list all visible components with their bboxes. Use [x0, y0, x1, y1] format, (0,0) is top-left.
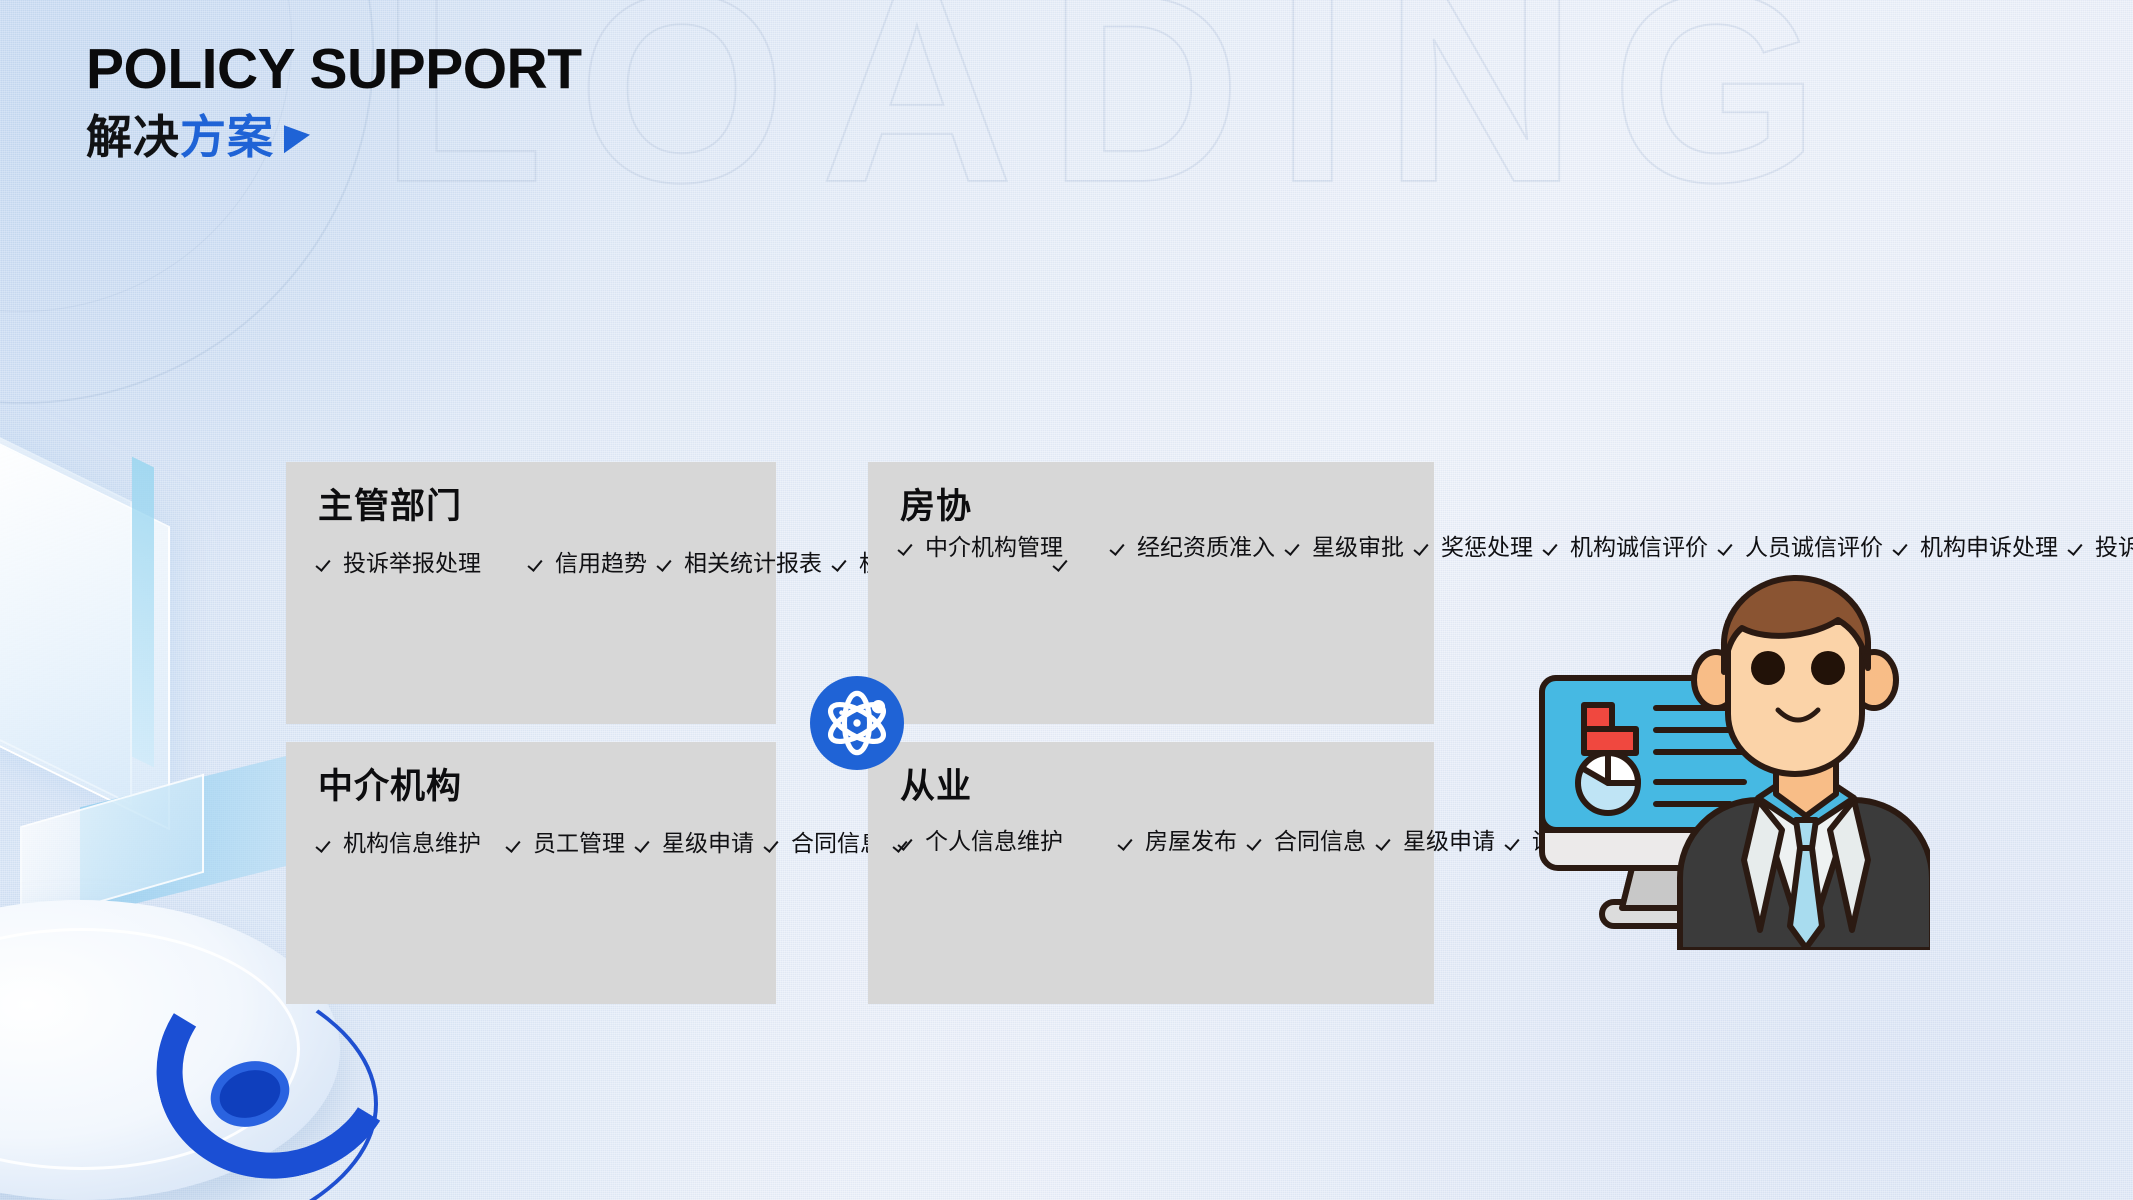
list-item[interactable]: 房屋发布 — [1120, 824, 1237, 859]
slide-canvas: LOADING POLICY SUPPORT 解决方案 主管部门 投诉举报处理 … — [0, 0, 2133, 1200]
list-item-label: 员工管理 — [533, 826, 625, 861]
card-agency[interactable]: 中介机构 机构信息维护 员工管理 星级申请 合同信息 诚信档案查看 — [286, 742, 776, 1004]
list-item[interactable]: 经纪资质准入 — [1112, 530, 1275, 564]
check-icon — [318, 836, 334, 852]
list-item-label: 个人信息维护 — [925, 824, 1063, 859]
list-item-label: 经纪资质准入 — [1137, 530, 1275, 564]
check-icon — [1112, 539, 1128, 555]
list-item[interactable]: 投诉建议记录 — [2070, 530, 2133, 564]
list-item-label: 中介机构管理 — [925, 530, 1063, 564]
check-icon — [900, 834, 916, 850]
list-item-label: 机构申诉处理 — [1920, 530, 2058, 564]
list-item[interactable]: 信用趋势 — [530, 546, 647, 580]
check-icon — [900, 539, 916, 555]
card-title: 从业 — [900, 766, 1408, 808]
list-item-label: 相关统计报表 — [684, 546, 822, 580]
check-icon — [318, 555, 334, 571]
list-item[interactable]: 奖惩处理 — [1416, 530, 1533, 564]
card-item-list: 投诉举报处理 信用趋势 相关统计报表 机构信用信息查看 人员信用信息查看 — [318, 546, 750, 580]
check-icon — [1055, 555, 1071, 571]
list-item-label: 星级申请 — [662, 826, 754, 861]
check-icon — [1378, 834, 1394, 850]
list-item[interactable]: 星级审批 — [1287, 530, 1404, 564]
card-practitioner[interactable]: 从业 个人信息维护 房屋发布 合同信息 星级申请 诚信档案查看 — [868, 742, 1434, 1004]
triangle-play-icon — [284, 121, 310, 154]
check-icon — [508, 836, 524, 852]
check-icon — [637, 836, 653, 852]
list-item[interactable]: 星级申请 — [1378, 824, 1495, 859]
subtitle-dark-part: 解决 — [86, 114, 180, 160]
card-housing-association[interactable]: 房协 中介机构管理 经纪资质准入 星级审批 奖惩处理 机构诚信评价 人员诚信评价… — [868, 462, 1434, 724]
list-item-label: 投诉建议记录 — [2095, 530, 2133, 564]
list-item-label: 合同信息 — [1274, 824, 1366, 859]
check-icon — [1249, 834, 1265, 850]
list-item[interactable]: 投诉举报处理 — [318, 546, 518, 580]
illustration-businessman-monitor — [1530, 530, 1930, 950]
atom-icon — [820, 686, 894, 760]
check-icon — [530, 555, 546, 571]
list-item-label: 星级申请 — [1403, 824, 1495, 859]
heading-block: POLICY SUPPORT 解决方案 — [86, 40, 582, 160]
check-icon — [1120, 834, 1136, 850]
list-item[interactable]: 机构信息维护 — [318, 826, 496, 861]
card-title: 中介机构 — [318, 766, 750, 808]
check-icon — [2070, 539, 2086, 555]
check-icon — [1287, 539, 1303, 555]
glass-panel-edge — [132, 457, 154, 768]
check-icon — [834, 555, 850, 571]
list-item-label: 奖惩处理 — [1441, 530, 1533, 564]
list-item[interactable]: 合同信息 — [1249, 824, 1366, 859]
page-title: POLICY SUPPORT — [86, 40, 582, 100]
list-item-label: 投诉举报处理 — [343, 546, 481, 580]
check-icon — [1416, 539, 1432, 555]
list-item-label: 机构信息维护 — [343, 826, 481, 861]
list-item[interactable]: 合同信息 — [766, 826, 883, 861]
list-item[interactable]: 相关统计报表 — [659, 546, 822, 580]
card-item-list: 中介机构管理 经纪资质准入 星级审批 奖惩处理 机构诚信评价 人员诚信评价 机构… — [900, 530, 1408, 564]
card-item-list: 个人信息维护 房屋发布 合同信息 星级申请 诚信档案查看 — [900, 824, 1408, 859]
list-item[interactable]: 个人信息维护 — [900, 824, 1108, 859]
center-atom-badge[interactable] — [810, 676, 904, 770]
page-subtitle: 解决方案 — [86, 114, 582, 160]
list-item[interactable]: 员工管理 — [508, 826, 625, 861]
card-title: 房协 — [900, 486, 1408, 528]
check-icon — [766, 836, 782, 852]
card-supervising-department[interactable]: 主管部门 投诉举报处理 信用趋势 相关统计报表 机构信用信息查看 人员信用信息查… — [286, 462, 776, 724]
check-icon — [1507, 834, 1523, 850]
card-title: 主管部门 — [318, 486, 750, 528]
check-icon — [659, 555, 675, 571]
card-item-list: 机构信息维护 员工管理 星级申请 合同信息 诚信档案查看 — [318, 826, 750, 861]
list-item-label: 信用趋势 — [555, 546, 647, 580]
list-item-label: 星级审批 — [1312, 530, 1404, 564]
subtitle-blue-part: 方案 — [180, 114, 274, 160]
list-item-label: 房屋发布 — [1145, 824, 1237, 859]
list-item[interactable]: 星级申请 — [637, 826, 754, 861]
